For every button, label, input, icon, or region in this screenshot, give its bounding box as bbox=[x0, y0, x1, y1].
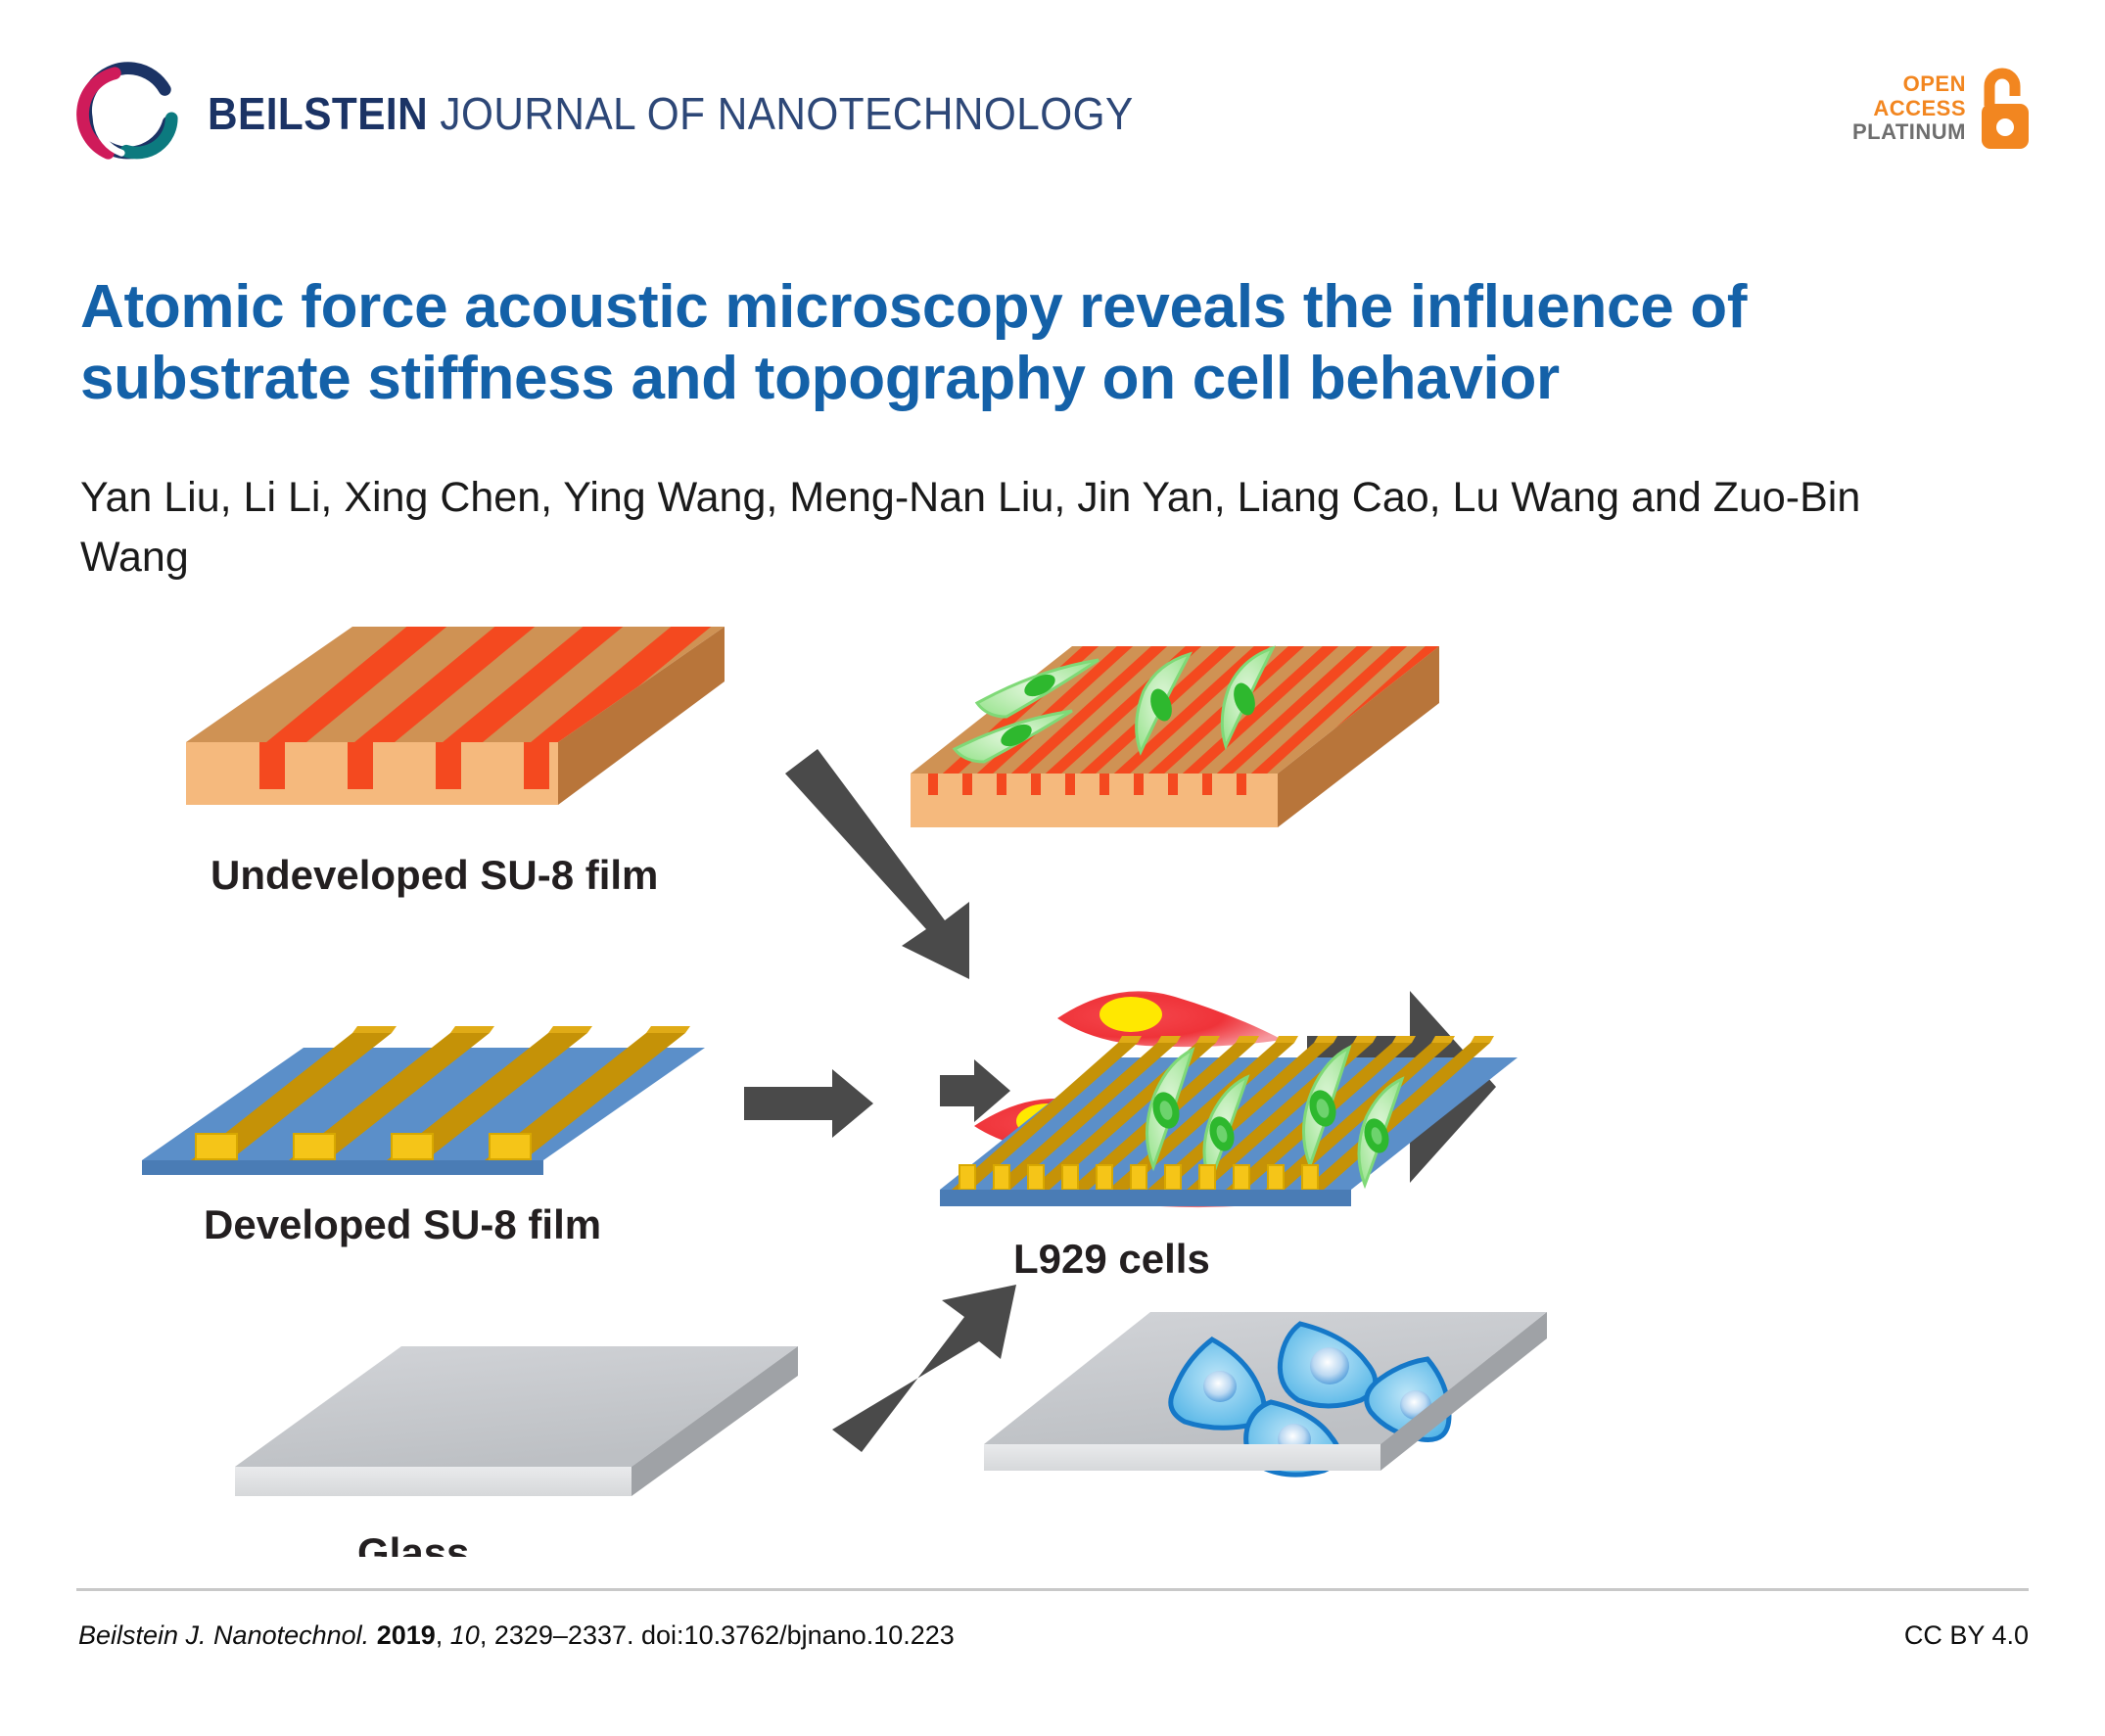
footer-divider bbox=[76, 1588, 2029, 1591]
developed-result-ridge-tips bbox=[1118, 1036, 1494, 1043]
result-developed-su8-with-cells bbox=[940, 1036, 1518, 1206]
arrow-glass-to-developed bbox=[832, 1285, 1016, 1452]
oa-line-platinum: PLATINUM bbox=[1852, 120, 1966, 145]
citation-line: Beilstein J. Nanotechnol. 2019, 10, 2329… bbox=[78, 1620, 955, 1651]
oa-line-open: OPEN bbox=[1903, 72, 1966, 97]
beilstein-swirl-logo-icon bbox=[76, 61, 182, 166]
article-title: Atomic force acoustic microscopy reveals… bbox=[80, 271, 1931, 414]
citation-year: 2019 bbox=[377, 1620, 436, 1650]
graphical-abstract: Undeveloped SU-8 film bbox=[59, 627, 2046, 1557]
article-cover-page: BEILSTEIN JOURNAL OF NANOTECHNOLOGY OPEN… bbox=[0, 0, 2105, 1736]
label-glass: Glass bbox=[357, 1529, 469, 1557]
label-undeveloped-su8: Undeveloped SU-8 film bbox=[210, 852, 658, 898]
masthead-brand: BEILSTEIN bbox=[208, 88, 428, 139]
label-developed-su8: Developed SU-8 film bbox=[204, 1201, 601, 1247]
open-access-badge: OPEN ACCESS PLATINUM bbox=[1852, 67, 2035, 151]
citation-journal: Beilstein J. Nanotechnol. bbox=[78, 1620, 369, 1650]
result-undeveloped-su8-with-cells bbox=[911, 636, 1444, 827]
citation-doi[interactable]: doi:10.3762/bjnano.10.223 bbox=[641, 1620, 955, 1650]
masthead-subtitle: JOURNAL OF NANOTECHNOLOGY bbox=[440, 88, 1133, 139]
open-access-words: OPEN ACCESS PLATINUM bbox=[1852, 72, 1966, 145]
masthead-title-text: BEILSTEIN JOURNAL OF NANOTECHNOLOGY bbox=[208, 87, 1134, 140]
license-label: CC BY 4.0 bbox=[1904, 1620, 2029, 1651]
citation-volume: 10 bbox=[450, 1620, 480, 1650]
journal-masthead: BEILSTEIN JOURNAL OF NANOTECHNOLOGY bbox=[76, 61, 1214, 166]
undeveloped-su8-slab bbox=[186, 627, 725, 805]
glass-slab bbox=[235, 1346, 798, 1496]
article-authors: Yan Liu, Li Li, Xing Chen, Ying Wang, Me… bbox=[80, 468, 1931, 587]
arrow-developed-to-cells bbox=[744, 1069, 873, 1138]
developed-su8-slab bbox=[142, 1026, 705, 1175]
graphical-abstract-svg: Undeveloped SU-8 film bbox=[59, 627, 2046, 1557]
citation-pages: 2329–2337. bbox=[494, 1620, 634, 1650]
result-glass-with-cells bbox=[984, 1312, 1547, 1475]
oa-line-access: ACCESS bbox=[1873, 97, 1966, 121]
label-l929-cells: L929 cells bbox=[1013, 1236, 1210, 1282]
open-lock-icon bbox=[1976, 67, 2035, 151]
